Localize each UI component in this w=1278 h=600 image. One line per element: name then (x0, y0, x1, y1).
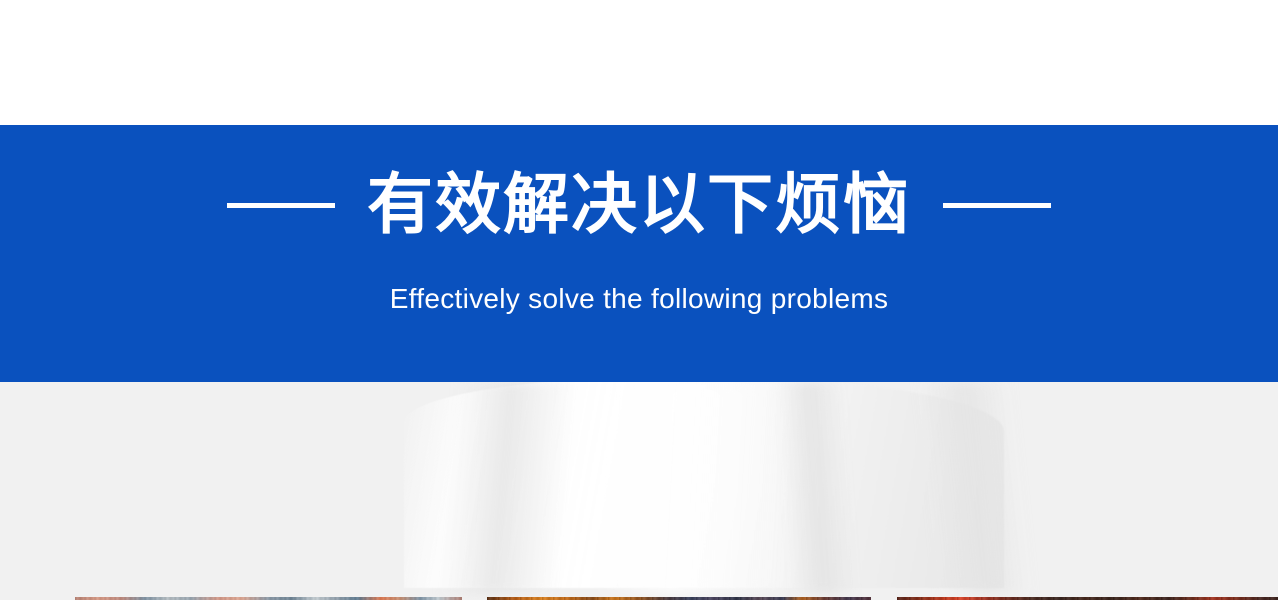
white-garment-image (404, 382, 1004, 588)
decorative-rule-left-icon (227, 203, 335, 208)
page-title: 有效解决以下烦恼 (367, 172, 911, 238)
headline-banner: 有效解决以下烦恼 Effectively solve the following… (0, 125, 1278, 382)
page-subtitle: Effectively solve the following problems (0, 282, 1278, 316)
page-root: 有效解决以下烦恼 Effectively solve the following… (0, 0, 1278, 600)
headline-row: 有效解决以下烦恼 (0, 125, 1278, 285)
top-white-strip (0, 0, 1278, 125)
decorative-rule-right-icon (943, 203, 1051, 208)
thumbnail-strip (0, 581, 1278, 600)
product-photo-area (0, 382, 1278, 600)
